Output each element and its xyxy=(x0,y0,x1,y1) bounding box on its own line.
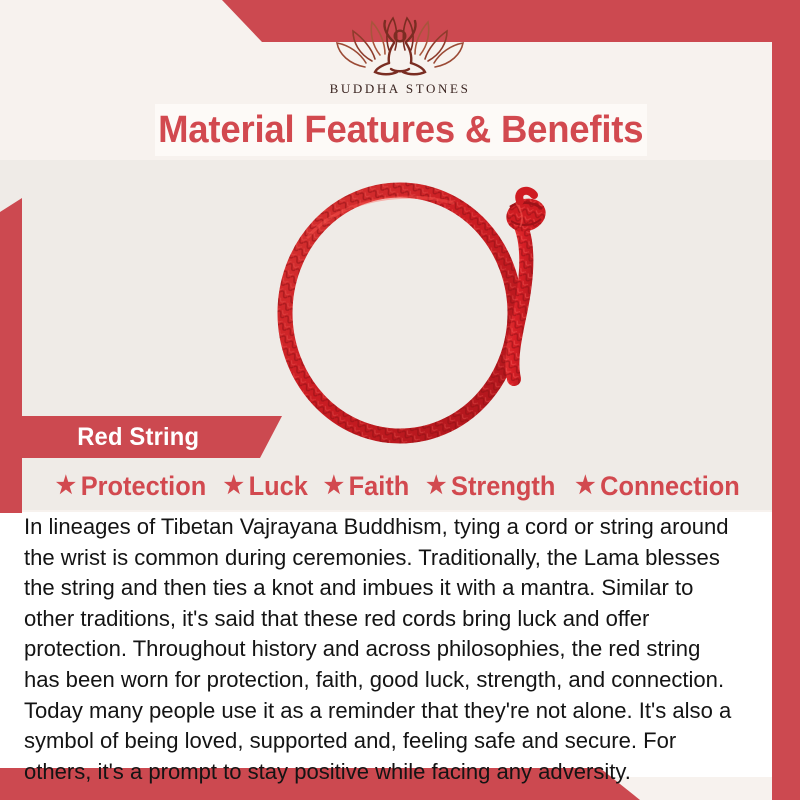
benefit-label: Luck xyxy=(249,471,308,502)
benefit-label: Protection xyxy=(81,471,207,502)
star-icon: ★ xyxy=(426,474,446,498)
benefit-label: Strength xyxy=(451,471,555,502)
benefits-row: ★ Protection ★ Luck ★ Faith ★ Strength ★… xyxy=(40,466,756,506)
lotus-meditation-logo-icon xyxy=(325,14,475,80)
benefit-item-luck: ★ Luck xyxy=(219,471,313,502)
title-banner: Material Features & Benefits xyxy=(155,104,647,156)
star-icon: ★ xyxy=(224,474,244,498)
description-paragraph: In lineages of Tibetan Vajrayana Buddhis… xyxy=(24,512,741,787)
star-icon: ★ xyxy=(575,474,595,498)
product-label-text: Red String xyxy=(77,423,199,452)
benefit-label: Connection xyxy=(600,471,740,502)
benefit-item-faith: ★ Faith xyxy=(319,471,414,502)
product-photo xyxy=(248,165,568,445)
star-icon: ★ xyxy=(324,474,344,498)
brand-logo: BUDDHA STONES xyxy=(0,14,800,97)
brand-name: BUDDHA STONES xyxy=(330,81,471,97)
benefit-item-protection: ★ Protection xyxy=(52,471,212,502)
benefit-item-strength: ★ Strength xyxy=(421,471,560,502)
star-icon: ★ xyxy=(56,474,76,498)
benefit-item-connection: ★ Connection xyxy=(570,471,744,502)
benefit-label: Faith xyxy=(349,471,410,502)
page-title: Material Features & Benefits xyxy=(158,109,643,152)
product-label-banner: Red String xyxy=(22,416,282,458)
infographic-poster: BUDDHA STONES Material Features & Benefi… xyxy=(0,0,800,800)
